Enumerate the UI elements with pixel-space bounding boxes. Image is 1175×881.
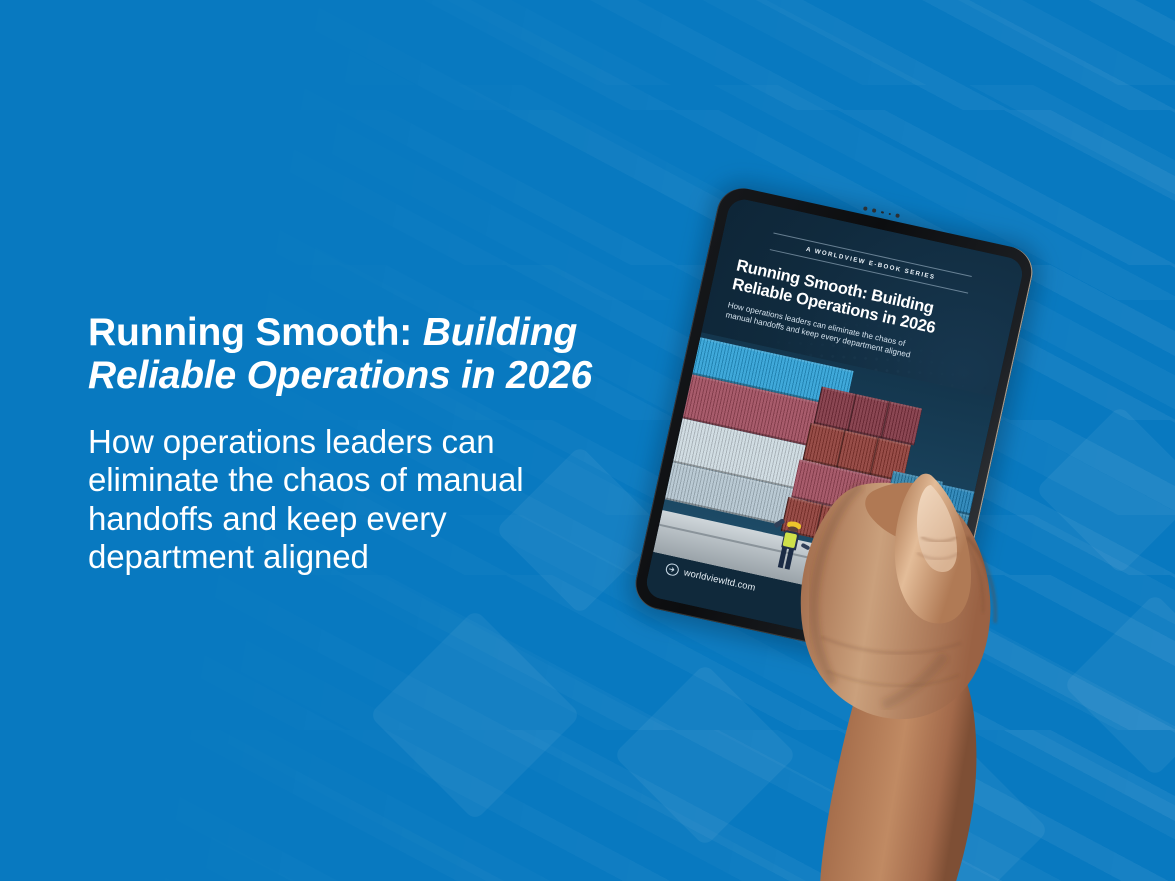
diamond-accent	[369, 609, 581, 821]
tablet-device: A WORLDVIEW E-BOOK SERIES Running Smooth…	[631, 183, 1038, 672]
promo-banner: Running Smooth: Building Reliable Operat…	[0, 0, 1175, 881]
headline-regular: Running Smooth:	[88, 311, 412, 354]
sphere-logo-icon	[840, 619, 853, 632]
tablet-bezel: A WORLDVIEW E-BOOK SERIES Running Smooth…	[631, 183, 1038, 672]
cover-logo-text: WORLDV	[857, 623, 905, 643]
subheadline: How operations leaders can eliminate the…	[88, 423, 618, 576]
arrow-right-circle-icon	[665, 562, 680, 577]
copy-block: Running Smooth: Building Reliable Operat…	[88, 312, 648, 576]
worker-leg	[813, 561, 822, 581]
headline: Running Smooth: Building Reliable Operat…	[88, 312, 648, 397]
device-scene: A WORLDVIEW E-BOOK SERIES Running Smooth…	[615, 185, 1175, 881]
